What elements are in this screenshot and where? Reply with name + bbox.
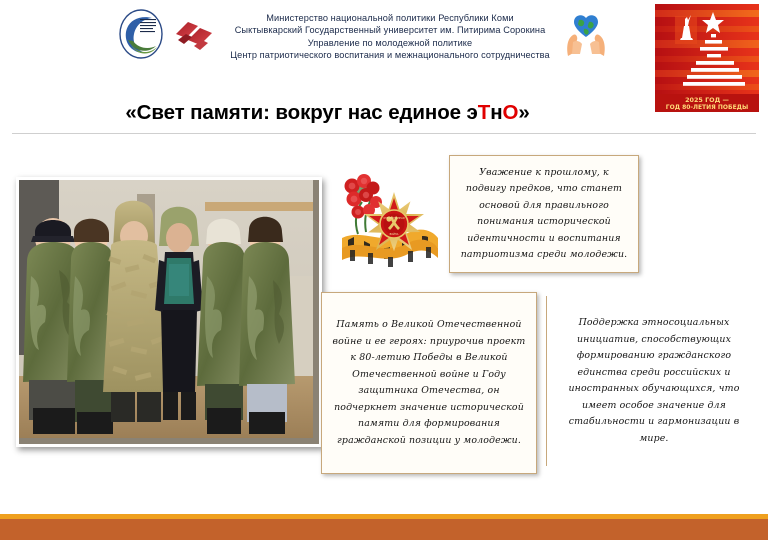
title-suffix: »	[518, 101, 529, 124]
title-highlight-t: Т	[478, 101, 490, 124]
svg-text:ГОД 80-ЛЕТИЯ ПОБЕДЫ: ГОД 80-ЛЕТИЯ ПОБЕДЫ	[666, 104, 748, 111]
svg-text:ВОЙНА: ВОЙНА	[390, 233, 399, 236]
students-camouflage-photo	[16, 177, 322, 447]
goal-card-respect: Уважение к прошлому, к подвигу предков, …	[449, 155, 639, 273]
header-line-4: Центр патриотического воспитания и межна…	[224, 49, 556, 61]
page-title: «Свет памяти: вокруг нас единое эТнО»	[125, 101, 529, 125]
presentation-slide: Министерство национальной политики Респу…	[0, 0, 768, 540]
goal-card-support-text: Поддержка этносоциальных инициатив, спос…	[547, 309, 761, 453]
svg-text:2025 ГОД —: 2025 ГОД —	[685, 96, 729, 104]
header-line-1: Министерство национальной политики Респу…	[224, 12, 556, 24]
slide-header: Министерство национальной политики Респу…	[0, 0, 768, 92]
goal-card-respect-text: Уважение к прошлому, к подвигу предков, …	[450, 159, 638, 270]
title-highlight-o: О	[502, 101, 518, 124]
goal-card-support: Поддержка этносоциальных инициатив, спос…	[546, 296, 761, 466]
title-prefix: «Свет памяти: вокруг нас единое э	[125, 101, 477, 124]
goal-card-memory-text: Память о Великой Отечественной войне и е…	[322, 311, 536, 455]
victory-day-emblem: ОТЕЧЕСТВЕННАЯ ВОЙНА	[340, 172, 440, 270]
footer-band	[0, 519, 768, 540]
header-line-3: Управление по молодежной политике	[224, 37, 556, 49]
svg-text:ОТЕЧЕСТВЕННАЯ: ОТЕЧЕСТВЕННАЯ	[383, 217, 405, 220]
goal-card-memory: Память о Великой Отечественной войне и е…	[321, 292, 537, 474]
sgu-logo	[172, 6, 216, 61]
title-divider	[12, 133, 756, 134]
victory-80-banner: 2025 ГОД — ГОД 80-ЛЕТИЯ ПОБЕДЫ	[655, 4, 759, 112]
ministry-komi-logo	[118, 6, 164, 65]
slide-title-wrap: «Свет памяти: вокруг нас единое эТнО»	[0, 96, 655, 130]
title-mid: н	[490, 101, 502, 124]
header-org-text: Министерство национальной политики Респу…	[224, 6, 556, 62]
hands-globe-logo	[564, 6, 608, 63]
header-line-2: Сыктывкарский Государственный университе…	[224, 24, 556, 36]
